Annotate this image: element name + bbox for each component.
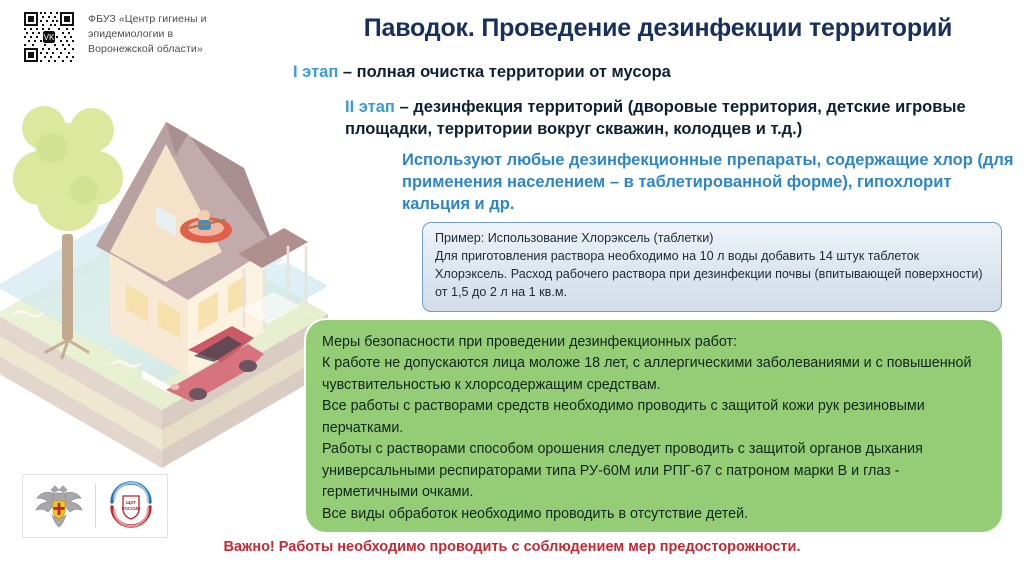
qr-code-icon[interactable]: VK — [22, 10, 76, 64]
example-callout-box: Пример: Использование Хлорэксель (таблет… — [422, 222, 1002, 312]
brand-organization-name: ФБУЗ «Центр гигиены и эпидемиологии в Во… — [88, 10, 238, 58]
house — [96, 122, 274, 376]
advisory-paragraph: Используют любые дезинфекционные препара… — [402, 150, 1014, 215]
porch — [238, 228, 308, 330]
footer-warning-text: Важно! Работы необходимо проводить с соб… — [0, 539, 1024, 555]
svg-text:VK: VK — [44, 33, 55, 42]
flood-illustration — [0, 78, 332, 468]
logo-strip: ЩИТ РОССИИ — [22, 474, 168, 538]
shield-of-russia-emblem-icon: ЩИТ РОССИИ — [96, 475, 168, 537]
safety-paragraph-4: Все виды обработок необходимо проводить … — [322, 504, 988, 525]
stage-1-line: I этап – полная очистка территории от му… — [293, 63, 993, 82]
walkway — [142, 370, 170, 394]
stage-1-key: I этап — [293, 63, 338, 81]
example-title: Пример: Использование Хлорэксель (таблет… — [435, 230, 991, 248]
safety-paragraph-1: К работе не допускаются лица моложе 18 л… — [322, 353, 988, 396]
ground-slab — [0, 218, 328, 468]
stage-2-key: II этап — [345, 98, 395, 116]
stage-2-line: II этап – дезинфекция территорий (дворов… — [345, 97, 1005, 141]
slide-canvas: VK ФБУЗ «Центр гигиены и эпидемиологии в… — [0, 0, 1024, 576]
safety-paragraph-2: Все работы с растворами средств необходи… — [322, 396, 988, 439]
inflatable-raft — [180, 210, 232, 243]
flood-water — [0, 190, 328, 382]
safety-paragraph-3: Работы с растворами способом орошения сл… — [322, 439, 988, 503]
safety-heading: Меры безопасности при проведении дезинфе… — [322, 332, 988, 353]
tree — [13, 106, 123, 358]
stage-2-text: – дезинфекция территорий (дворовые терри… — [345, 98, 966, 138]
svg-text:ЩИТ: ЩИТ — [126, 500, 136, 505]
brand-block: VK ФБУЗ «Центр гигиены и эпидемиологии в… — [22, 10, 238, 64]
example-body: Для приготовления раствора необходимо на… — [435, 248, 991, 302]
rospotrebnadzor-emblem-icon — [23, 475, 95, 537]
stage-1-text: – полная очистка территории от мусора — [338, 63, 671, 81]
safety-measures-box: Меры безопасности при проведении дезинфе… — [304, 318, 1004, 534]
svg-text:РОССИИ: РОССИИ — [122, 506, 141, 511]
car — [166, 326, 264, 402]
page-title: Паводок. Проведение дезинфекции территор… — [300, 14, 1016, 43]
